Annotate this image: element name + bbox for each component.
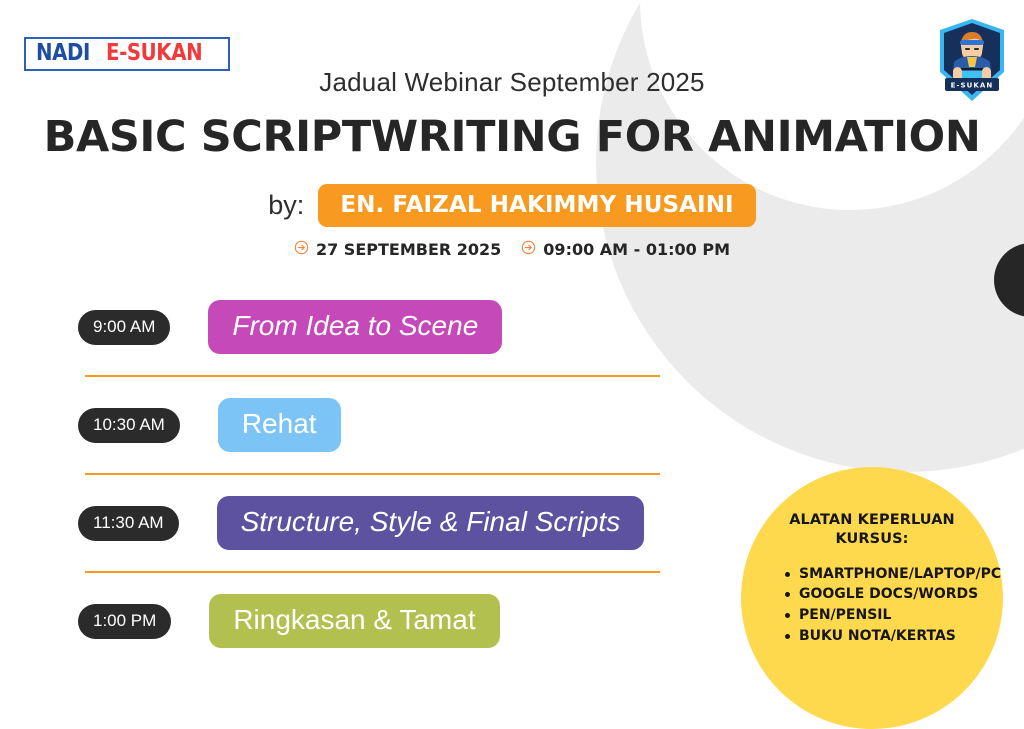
equipment-list: SMARTPHONE/LAPTOP/PCGOOGLE DOCS/WORDSPEN…: [785, 564, 985, 647]
esukan-gamer-badge-icon: E-SUKAN: [934, 16, 1010, 104]
speaker-badge: EN. FAIZAL HAKIMMY HUSAINI: [318, 184, 755, 227]
page-title: BASIC SCRIPTWRITING FOR ANIMATION: [0, 112, 1024, 162]
schedule-topic-bar: Ringkasan & Tamat: [209, 594, 499, 647]
schedule-topic-bar: Structure, Style & Final Scripts: [217, 496, 645, 549]
schedule-divider: [85, 473, 660, 475]
speaker-row: by: EN. FAIZAL HAKIMMY HUSAINI: [0, 184, 1024, 227]
date-item: 27 SEPTEMBER 2025: [294, 240, 501, 259]
date-time-row: 27 SEPTEMBER 2025 09:00 AM - 01:00 PM: [0, 240, 1024, 259]
by-label: by:: [268, 190, 304, 221]
arrow-in-circle-icon: [521, 240, 536, 259]
schedule-row: 9:00 AMFrom Idea to Scene: [0, 296, 1024, 358]
schedule-divider: [85, 571, 660, 573]
time-item: 09:00 AM - 01:00 PM: [521, 240, 730, 259]
schedule-time-pill: 9:00 AM: [78, 310, 170, 345]
schedule-topic-bar: From Idea to Scene: [208, 300, 502, 353]
equipment-title: ALATAN KEPERLUAN KURSUS:: [759, 511, 985, 549]
schedule-time-pill: 1:00 PM: [78, 604, 171, 639]
equipment-title-line-2: KURSUS:: [759, 530, 985, 549]
schedule-row: 10:30 AMRehat: [0, 394, 1024, 456]
date-text: 27 SEPTEMBER 2025: [316, 240, 501, 259]
logo-text-esukan: E-SUKAN: [106, 42, 202, 65]
subtitle-kicker: Jadual Webinar September 2025: [0, 67, 1024, 98]
equipment-callout: ALATAN KEPERLUAN KURSUS: SMARTPHONE/LAPT…: [741, 467, 1003, 729]
equipment-item: GOOGLE DOCS/WORDS: [785, 584, 985, 605]
schedule-topic-bar: Rehat: [218, 398, 341, 451]
arrow-in-circle-icon: [294, 240, 309, 259]
equipment-item: BUKU NOTA/KERTAS: [785, 626, 985, 647]
nadi-esukan-logo: NADI E-SUKAN: [24, 37, 230, 71]
equipment-item: PEN/PENSIL: [785, 605, 985, 626]
time-range-text: 09:00 AM - 01:00 PM: [543, 240, 730, 259]
poster: NADI E-SUKAN E-SUKAN: [0, 0, 1024, 724]
logo-text-nadi: NADI: [36, 42, 90, 65]
equipment-title-line-1: ALATAN KEPERLUAN: [759, 511, 985, 530]
schedule-divider: [85, 375, 660, 377]
schedule-time-pill: 11:30 AM: [78, 506, 179, 541]
schedule-time-pill: 10:30 AM: [78, 408, 180, 443]
equipment-item: SMARTPHONE/LAPTOP/PC: [785, 564, 985, 585]
badge-label-text: E-SUKAN: [951, 82, 994, 90]
